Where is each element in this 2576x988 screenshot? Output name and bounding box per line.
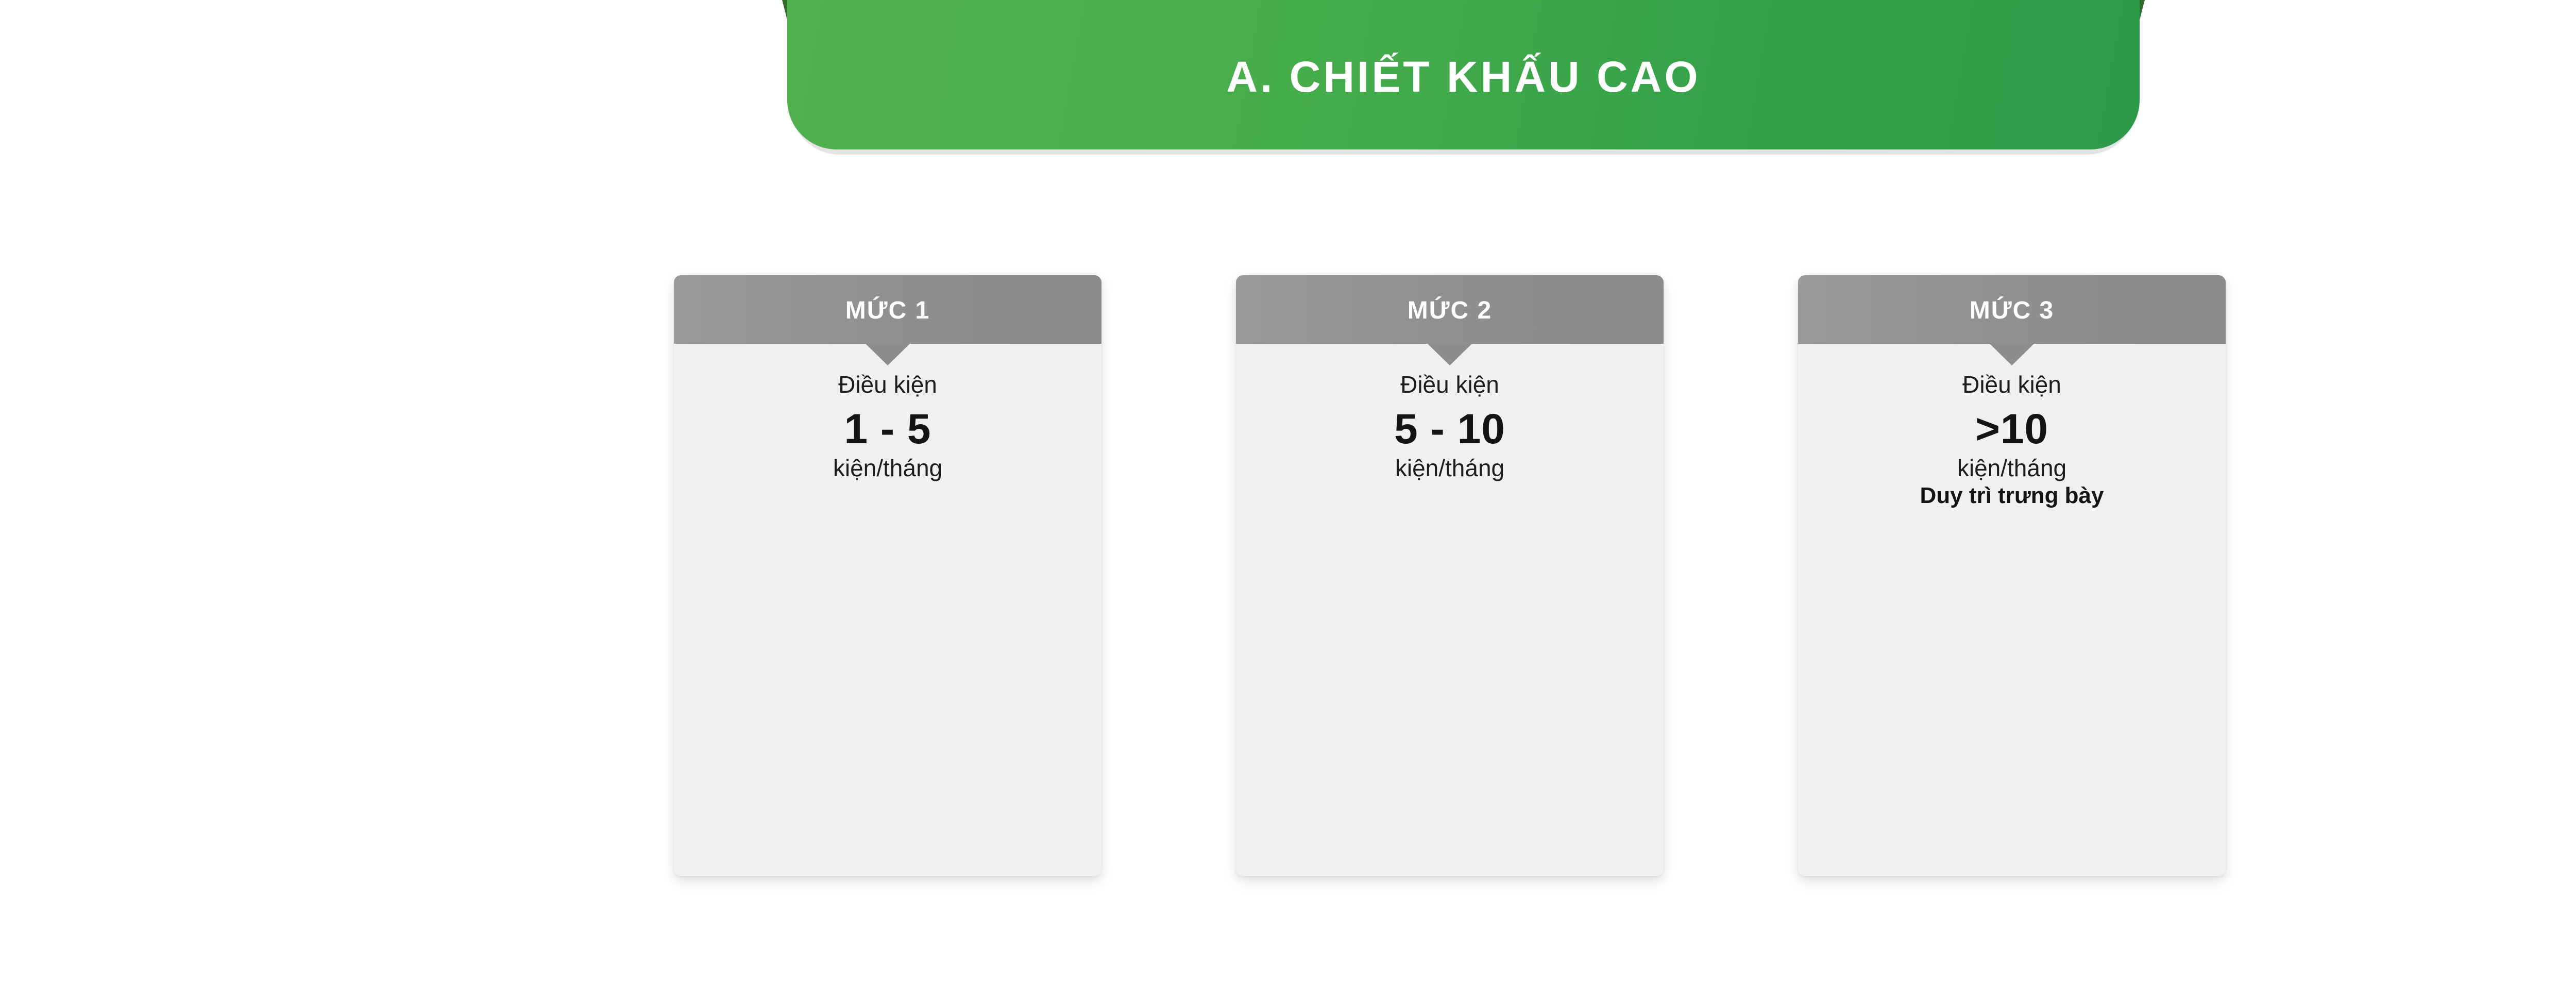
header-notch-triangle-icon	[1990, 344, 2034, 365]
tier-card-header: MỨC 2	[1236, 275, 1664, 344]
page-title: A. CHIẾT KHẤU CAO	[1226, 55, 1700, 98]
tier-label: MỨC 1	[845, 298, 930, 323]
tier-card-header: MỨC 1	[674, 275, 1101, 344]
condition-unit: kiện/tháng	[691, 455, 1084, 482]
tier-card-body: Điều kiện >10 kiện/tháng Duy trì trưng b…	[1798, 372, 2226, 509]
tier-card-inner: MỨC 3 Điều kiện >10 kiện/tháng Duy trì t…	[1798, 275, 2226, 876]
condition-label: Điều kiện	[691, 372, 1084, 398]
tier-label: MỨC 3	[1970, 298, 2055, 323]
header-notch-triangle-icon	[866, 344, 910, 365]
condition-unit: kiện/tháng	[1816, 455, 2208, 482]
tier-card[interactable]: MỨC 2 Điều kiện 5 - 10 kiện/tháng Chiết …	[1236, 275, 1664, 876]
tier-label: MỨC 2	[1408, 298, 1493, 323]
tier-card-inner: MỨC 2 Điều kiện 5 - 10 kiện/tháng Chiết …	[1236, 275, 1664, 876]
condition-label: Điều kiện	[1253, 372, 1646, 398]
tier-card-header: MỨC 3	[1798, 275, 2226, 344]
header-notch-triangle-icon	[1428, 344, 1472, 365]
tier-card-list: MỨC 1 Điều kiện 1 - 5 kiện/tháng Chiết k…	[674, 275, 2226, 878]
condition-note: Duy trì trưng bày	[1816, 483, 2208, 509]
tier-card-body: Điều kiện 5 - 10 kiện/tháng	[1236, 372, 1664, 482]
section-header-banner: A. CHIẾT KHẤU CAO	[787, 0, 2140, 155]
banner-body: A. CHIẾT KHẤU CAO	[787, 0, 2140, 149]
condition-unit: kiện/tháng	[1253, 455, 1646, 482]
condition-value: 1 - 5	[691, 407, 1084, 451]
condition-label: Điều kiện	[1816, 372, 2208, 398]
condition-value: 5 - 10	[1253, 407, 1646, 451]
tier-card-inner: MỨC 1 Điều kiện 1 - 5 kiện/tháng Chiết k…	[674, 275, 1101, 876]
tier-card[interactable]: MỨC 3 Điều kiện >10 kiện/tháng Duy trì t…	[1798, 275, 2226, 876]
condition-value: >10	[1816, 407, 2208, 451]
tier-card-body: Điều kiện 1 - 5 kiện/tháng	[674, 372, 1101, 482]
tier-card[interactable]: MỨC 1 Điều kiện 1 - 5 kiện/tháng Chiết k…	[674, 275, 1101, 876]
